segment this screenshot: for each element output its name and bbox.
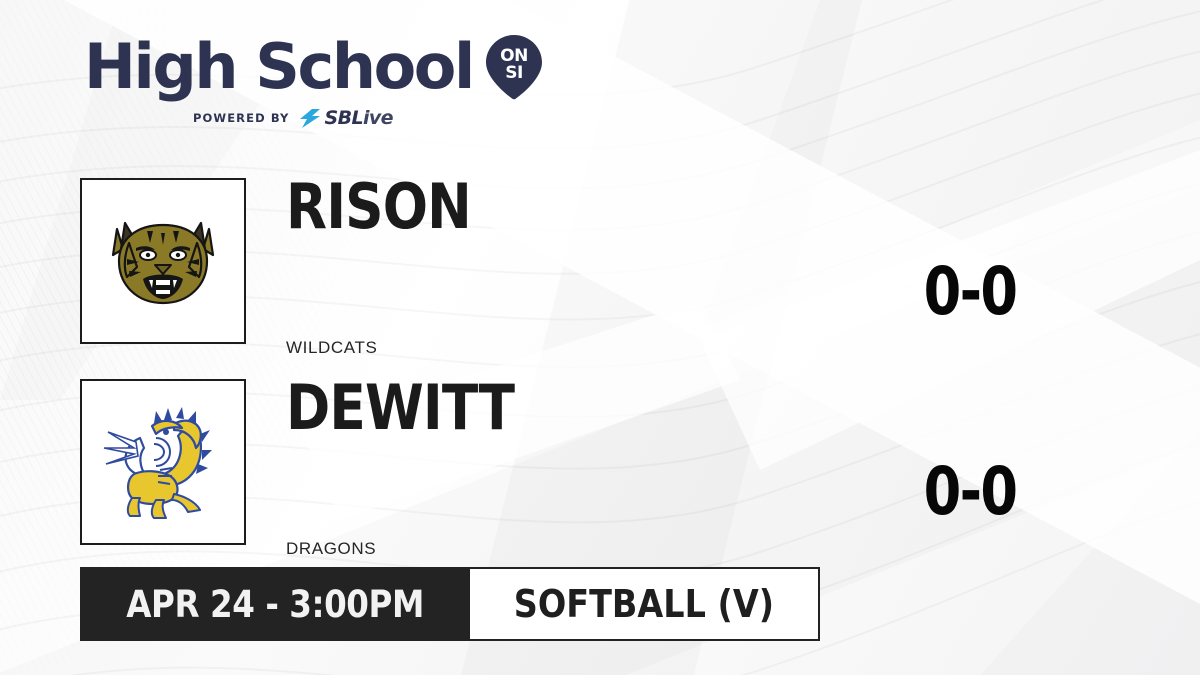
game-datetime-panel: APR 24 - 3:00PM — [80, 567, 470, 641]
team-name-home: RISON — [286, 176, 471, 238]
brand-header: High School ON SI POWERED BY SBLive — [84, 34, 543, 127]
lightning-bolt-icon — [300, 109, 322, 128]
team-record-home: 0-0 — [888, 259, 1052, 325]
dragon-logo — [100, 404, 226, 520]
pin-label-si: SI — [505, 63, 523, 83]
team-name-away: DEWITT — [286, 377, 514, 439]
team-mascot-home: WILDCATS — [286, 338, 377, 358]
sblive-logo: SBLive — [300, 107, 393, 129]
game-sport-label: SOFTBALL (V) — [514, 585, 774, 623]
game-datetime-label: APR 24 - 3:00PM — [126, 586, 424, 623]
team-record-away: 0-0 — [888, 459, 1052, 525]
sblive-wordmark: SBLive — [325, 107, 393, 129]
powered-by-row: POWERED BY SBLive — [84, 109, 502, 127]
matchup-graphic: High School ON SI POWERED BY SBLive — [0, 0, 1200, 675]
team-logo-box-away — [80, 379, 246, 545]
brand-title: High School — [84, 36, 473, 98]
onsi-location-pin-icon: ON SI — [485, 34, 543, 100]
brand-wordmark: High School ON SI — [84, 34, 543, 100]
team-mascot-away: DRAGONS — [286, 539, 376, 559]
game-info-bar: APR 24 - 3:00PM SOFTBALL (V) — [80, 567, 820, 641]
game-sport-panel: SOFTBALL (V) — [470, 567, 820, 641]
team-logo-box-home — [80, 178, 246, 344]
powered-by-label: POWERED BY — [193, 111, 289, 125]
wildcat-head-logo — [103, 209, 223, 313]
